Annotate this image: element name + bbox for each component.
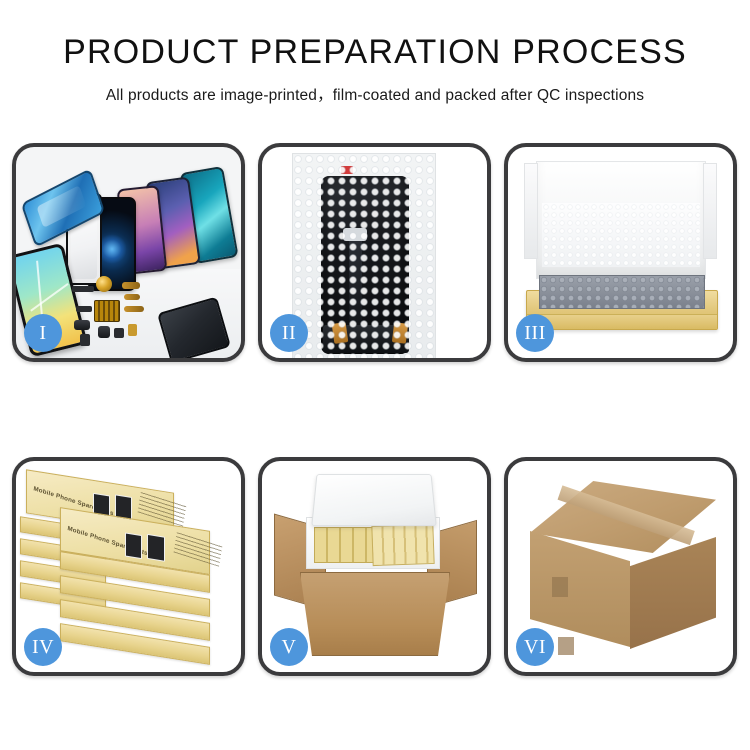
page-subtitle: All products are image-printed，film-coat…: [0, 83, 750, 105]
step-panel-3[interactable]: III: [504, 143, 737, 362]
sim-tray-icon: [80, 334, 90, 346]
lid-flap-left: [524, 163, 538, 259]
brown-carton-body: [300, 572, 450, 656]
foam-cooler-lid: [311, 474, 436, 526]
gold-tab-right-icon: [392, 322, 408, 344]
step-badge-4: IV: [24, 628, 62, 666]
box-chip-image: [125, 532, 142, 559]
lid-flap-right: [703, 163, 717, 259]
step-panel-6[interactable]: VI: [504, 457, 737, 676]
step-panel-4[interactable]: Mobile Phone Spare Parts Mobile Phone Sp…: [12, 457, 245, 676]
small-part-icon: [76, 306, 92, 312]
step-badge-2: II: [270, 314, 308, 352]
box-spec-lines: [174, 531, 223, 567]
tray-front-edge: [527, 314, 717, 329]
button-part-icon: [114, 328, 124, 338]
carton-sticker-lower: [558, 637, 574, 655]
bubble-wrap-bag: [292, 153, 436, 358]
step-badge-5: V: [270, 628, 308, 666]
page-title: PRODUCT PREPARATION PROCESS: [0, 30, 750, 74]
spare-parts-cluster: [72, 274, 195, 354]
speaker-icon: [74, 320, 90, 330]
carton-right-face: [630, 537, 716, 649]
flex-cable-icon: [122, 282, 140, 289]
box-chip-image: [147, 534, 165, 562]
header: PRODUCT PREPARATION PROCESS All products…: [0, 0, 750, 105]
white-foam-sheet: [542, 203, 700, 267]
carton-sticker-upper: [552, 577, 568, 597]
step-badge-6: VI: [516, 628, 554, 666]
vibrator-icon: [98, 326, 110, 338]
yellow-box-tray: [526, 290, 718, 330]
process-steps-grid: I II: [12, 143, 738, 676]
connector-strip-icon: [72, 286, 94, 292]
gold-tab-left-icon: [332, 322, 349, 344]
step-panel-5[interactable]: V: [258, 457, 491, 676]
step-badge-3: III: [516, 314, 554, 352]
camera-module-icon: [96, 276, 112, 292]
step-badge-1: I: [24, 314, 62, 352]
flex-cable-2-icon: [124, 294, 140, 300]
lcd-connector-icon: [343, 228, 367, 241]
gold-contact-icon: [128, 324, 137, 336]
grey-foam-padding: [539, 275, 705, 309]
red-label-icon: [341, 166, 353, 174]
yellow-boxes-row-2: [371, 524, 434, 566]
step-panel-1[interactable]: I: [12, 143, 245, 362]
step-panel-2[interactable]: II: [258, 143, 491, 362]
carton-left-face: [530, 531, 630, 647]
chip-grid-icon: [94, 300, 120, 322]
lcd-flex-cable-icon: [349, 234, 362, 338]
product-preparation-process-page: PRODUCT PREPARATION PROCESS All products…: [0, 0, 750, 750]
flex-cable-3-icon: [124, 306, 144, 312]
